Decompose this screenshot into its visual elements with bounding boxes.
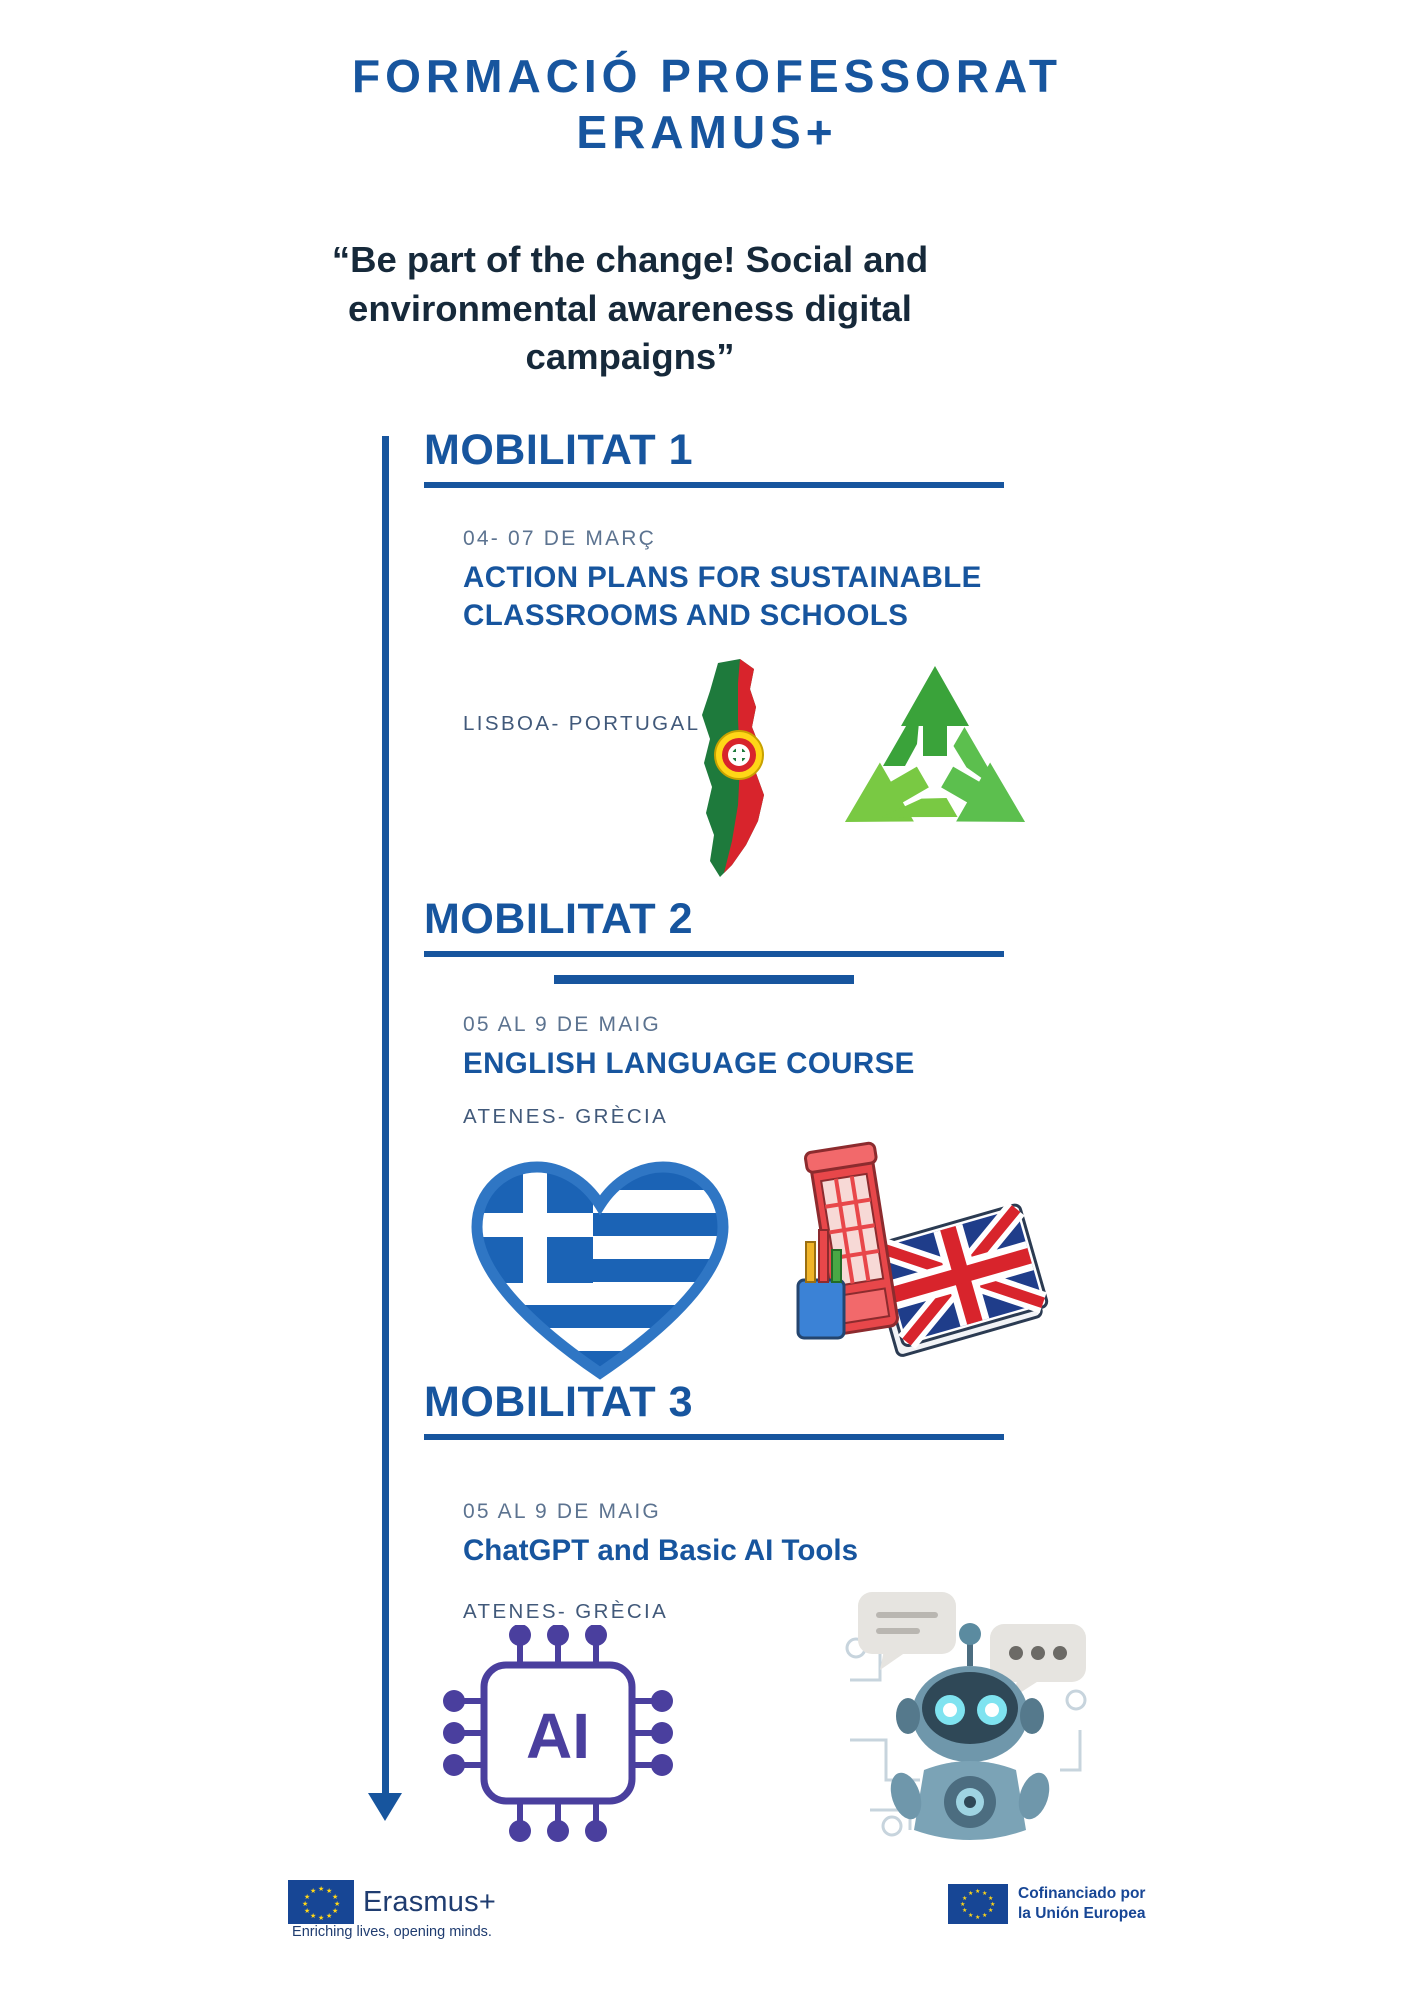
- event-date-3: 05 AL 9 DE MAIG: [463, 1500, 858, 1524]
- cofunded-line-2: la Unión Europea: [1018, 1904, 1145, 1924]
- event-block-3: 05 AL 9 DE MAIG ChatGPT and Basic AI Too…: [463, 1500, 858, 1570]
- cofunded-text: Cofinanciado por la Unión Europea: [1018, 1884, 1145, 1925]
- mobility-heading-2: MOBILITAT 2: [424, 897, 1004, 984]
- uk-flag-phonebox-books-icon: [790, 1130, 1060, 1380]
- portugal-map-flag-icon: [680, 655, 800, 885]
- mobility-rule-1: [424, 482, 1004, 488]
- event-title-3: ChatGPT and Basic AI Tools: [463, 1532, 858, 1570]
- event-date-1: 04- 07 DE MARÇ: [463, 527, 1043, 551]
- footer: ★ ★ ★ ★ ★ ★ ★ ★ ★ ★ ★ ★ Erasmus+ Enrichi…: [0, 1880, 1414, 1960]
- event-place-2: ATENES- GRÈCIA: [463, 1105, 668, 1129]
- erasmus-wordmark: Erasmus+: [363, 1886, 496, 1919]
- eu-flag-icon-cofunded: ★ ★ ★ ★ ★ ★ ★ ★ ★ ★ ★ ★: [948, 1884, 1008, 1924]
- chatbot-robot-icon: [840, 1580, 1100, 1860]
- timeline-axis-line: [382, 436, 389, 1806]
- poster-subtitle: “Be part of the change! Social and envir…: [250, 236, 1010, 382]
- poster-title-block: FORMACIÓ PROFESSORAT ERAMUS+: [0, 48, 1414, 160]
- eu-flag-icon: ★ ★ ★ ★ ★ ★ ★ ★ ★ ★ ★ ★: [288, 1880, 354, 1924]
- event-block-1: 04- 07 DE MARÇ ACTION PLANS FOR SUSTAINA…: [463, 527, 1043, 635]
- event-place-3: ATENES- GRÈCIA: [463, 1600, 668, 1624]
- title-line-1: FORMACIÓ PROFESSORAT: [352, 50, 1062, 102]
- mobility-rule-2: [424, 951, 1004, 957]
- mobility-accent-bar-2: [554, 975, 854, 984]
- title-line-2: ERAMUS+: [0, 104, 1414, 160]
- cofunded-line-1: Cofinanciado por: [1018, 1884, 1145, 1904]
- ai-chip-label: AI: [526, 1700, 590, 1772]
- page-title: FORMACIÓ PROFESSORAT ERAMUS+: [0, 48, 1414, 160]
- cofunded-eu-logo: ★ ★ ★ ★ ★ ★ ★ ★ ★ ★ ★ ★ Cofinanciado por…: [948, 1884, 1145, 1925]
- event-date-2: 05 AL 9 DE MAIG: [463, 1013, 915, 1037]
- poster-root: FORMACIÓ PROFESSORAT ERAMUS+ “Be part of…: [0, 0, 1414, 1999]
- event-place-1: LISBOA- PORTUGAL: [463, 712, 700, 736]
- mobility-heading-1: MOBILITAT 1: [424, 428, 1004, 488]
- erasmus-tagline: Enriching lives, opening minds.: [288, 1924, 496, 1940]
- event-block-2: 05 AL 9 DE MAIG ENGLISH LANGUAGE COURSE: [463, 1013, 915, 1083]
- recycling-symbol-icon: [810, 650, 1060, 890]
- ai-chip-icon: AI: [440, 1625, 690, 1855]
- greek-flag-heart-icon: [455, 1135, 745, 1395]
- erasmus-plus-logo: ★ ★ ★ ★ ★ ★ ★ ★ ★ ★ ★ ★ Erasmus+ Enrichi…: [288, 1880, 496, 1924]
- mobility-heading-3: MOBILITAT 3: [424, 1380, 1004, 1440]
- timeline-arrow-icon: [368, 1793, 402, 1821]
- mobility-rule-3: [424, 1434, 1004, 1440]
- mobility-heading-label-2: MOBILITAT 2: [424, 897, 1004, 942]
- event-title-2: ENGLISH LANGUAGE COURSE: [463, 1045, 915, 1083]
- mobility-heading-label-3: MOBILITAT 3: [424, 1380, 1004, 1425]
- mobility-heading-label-1: MOBILITAT 1: [424, 428, 1004, 473]
- event-title-1: ACTION PLANS FOR SUSTAINABLE CLASSROOMS …: [463, 559, 1043, 635]
